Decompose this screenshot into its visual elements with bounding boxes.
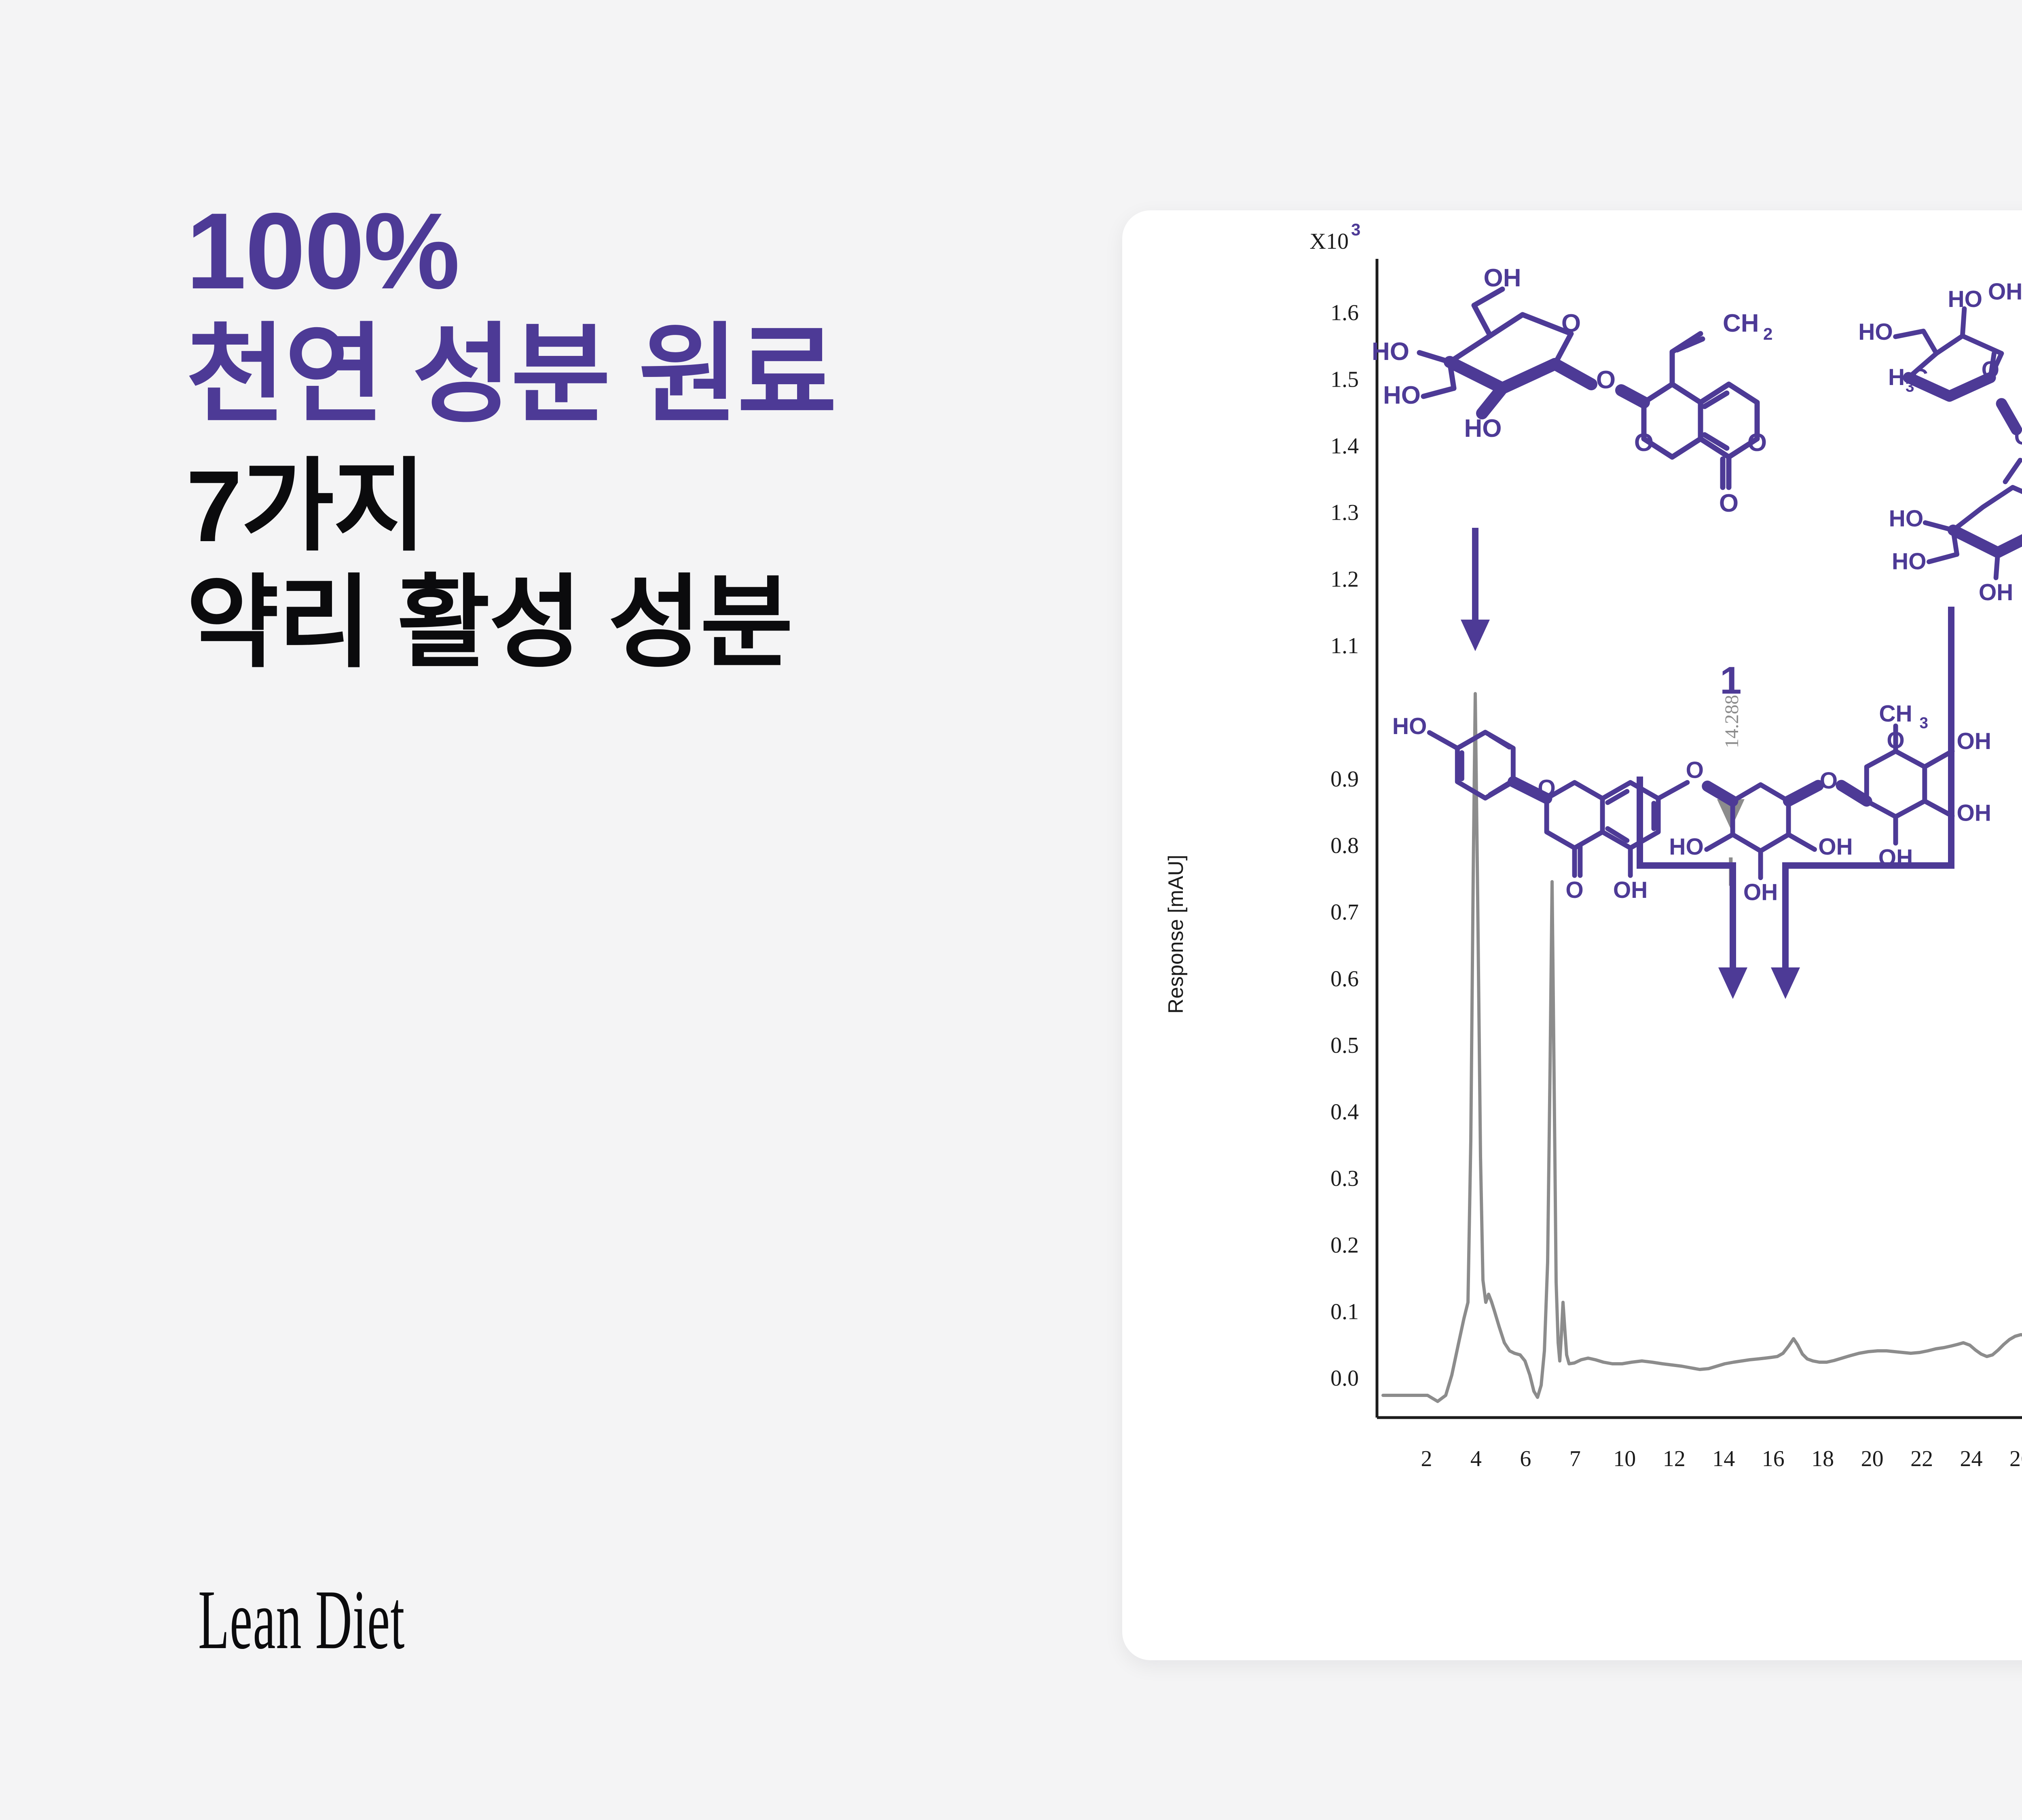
label-o: O (1634, 429, 1654, 457)
y-tick-label: 0.8 (1330, 833, 1359, 858)
label-ho: HO (1372, 338, 1409, 366)
headline-line-1: 100% (186, 190, 1116, 311)
label-ch3: CH (1879, 701, 1912, 727)
label-oh: OH (1956, 728, 1991, 754)
x-tick-label: 18 (1811, 1446, 1834, 1471)
label-o: O (1561, 309, 1581, 337)
y-tick-label: 1.5 (1330, 367, 1359, 392)
y-exponent-base: X10 (1310, 229, 1349, 254)
chart-card: .ax { stroke:#1c1c1c; stroke-width:7; fi… (1122, 210, 2022, 1660)
x-tick-label: 26 (2009, 1446, 2022, 1471)
label-ho: HO (1889, 506, 1924, 532)
structure-flavanone-rutinoside: HO OH HO H 3 C O O HO HO OH (1858, 279, 2022, 645)
label-oh: OH (1878, 845, 1913, 871)
y-tick-label: 0.4 (1330, 1100, 1359, 1125)
label-h3c-c: C (1912, 364, 1928, 390)
brand-logo: Lean Diet (198, 1571, 405, 1669)
y-tick-label: 0.9 (1330, 766, 1359, 791)
structure-flavanone-glycoside: HO O O OH O (1392, 701, 1991, 906)
label-o: O (1747, 429, 1767, 457)
x-tick-label: 20 (1861, 1446, 1884, 1471)
headline-line-4: 약리 활성 성분 (186, 566, 1116, 679)
label-oh: OH (1988, 279, 2022, 305)
label-ho: HO (1948, 286, 1982, 312)
y-tick-label: 0.6 (1330, 966, 1359, 991)
label-h3c: H (1888, 364, 1905, 390)
label-ho: HO (1892, 548, 1927, 574)
x-tick-label: 2 (1421, 1446, 1432, 1471)
label-oh: OH (1818, 834, 1853, 860)
label-oh: OH (1956, 800, 1991, 826)
y-tick-label: 1.1 (1330, 633, 1359, 658)
chromatogram-figure: .ax { stroke:#1c1c1c; stroke-width:7; fi… (1122, 210, 2022, 1660)
x-tick-label: 12 (1663, 1446, 1686, 1471)
x-tick-label: 16 (1762, 1446, 1785, 1471)
label-o: O (1596, 366, 1616, 394)
poster-root: 100% 천연 성분 원료 7가지 약리 활성 성분 Lean Diet .ax… (0, 0, 2022, 1820)
x-tick-label: 6 (1520, 1446, 1531, 1471)
y-tick-label: 1.4 (1330, 434, 1359, 459)
label-oh: OH (1484, 264, 1521, 292)
headline-line-3: 7가지 (186, 450, 1116, 563)
label-ho: HO (1464, 415, 1502, 442)
y-tick-label: 0.0 (1330, 1366, 1359, 1391)
x-tick-group: 2467101214161820222426283032343638404244… (1421, 1446, 2022, 1471)
y-tick-label: 1.3 (1330, 500, 1359, 525)
y-tick-label: 0.1 (1330, 1299, 1359, 1325)
label-oh: OH (1979, 580, 2014, 605)
y-tick-group: 1.61.51.41.31.21.10.90.80.70.60.50.40.30… (1330, 301, 1359, 1391)
x-tick-label: 7 (1569, 1446, 1581, 1471)
left-panel: 100% 천연 성분 원료 7가지 약리 활성 성분 Lean Diet (0, 0, 1132, 1820)
label-o: O (1982, 357, 1999, 383)
label-o: O (1719, 489, 1739, 517)
peak-retention-time: 14.288 (1721, 695, 1743, 748)
y-tick-label: 0.2 (1330, 1233, 1359, 1258)
x-tick-label: 10 (1613, 1446, 1636, 1471)
label-o: O (1686, 758, 1704, 783)
y-tick-label: 1.2 (1330, 567, 1359, 592)
y-axis-title: Response [mAU] (1164, 855, 1188, 1014)
y-tick-label: 0.7 (1330, 900, 1359, 925)
y-tick-label: 0.3 (1330, 1166, 1359, 1191)
x-tick-label: 22 (1910, 1446, 1933, 1471)
y-tick-label: 0.5 (1330, 1033, 1359, 1058)
pointer-arrow-1 (1461, 528, 1490, 651)
peak-annotation-1: 114.288 (1717, 659, 1745, 886)
label-o: O (1565, 877, 1583, 903)
structure-secoiridoid-glucoside: OH HO HO HO O O O O O (1372, 264, 1772, 517)
label-o: O (2014, 424, 2022, 450)
headline-line-2: 천연 성분 원료 (186, 314, 1116, 435)
y-tick-label: 1.6 (1330, 301, 1359, 326)
label-oh: OH (1743, 879, 1778, 905)
label-ch3-sub: 3 (1919, 714, 1928, 732)
x-tick-label: 14 (1712, 1446, 1735, 1471)
label-ho: HO (1383, 381, 1421, 409)
label-ho: HO (1669, 834, 1704, 860)
x-tick-label: 24 (1960, 1446, 1983, 1471)
y-axis-exponent: X10 3 (1310, 220, 1361, 254)
headline-block: 100% 천연 성분 원료 7가지 약리 활성 성분 (186, 190, 1116, 679)
label-ho: HO (1858, 319, 1893, 345)
label-o: O (1820, 768, 1838, 794)
label-ho: HO (1392, 713, 1427, 739)
label-ch2: CH (1723, 309, 1759, 337)
x-tick-label: 4 (1470, 1446, 1482, 1471)
label-oh: OH (1613, 877, 1648, 903)
label-ch2-sub: 2 (1763, 324, 1772, 343)
y-exponent-superscript: 3 (1351, 220, 1360, 239)
label-o: O (1538, 775, 1555, 801)
